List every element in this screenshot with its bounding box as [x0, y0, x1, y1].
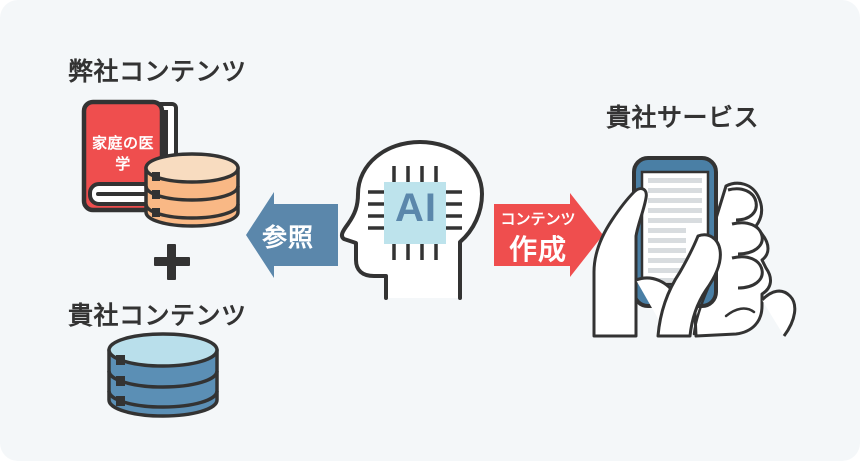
arrow-create-label-bottom: 作成	[492, 228, 584, 268]
db-orange-led-2	[152, 190, 160, 199]
arrow-reference-label: 参照	[244, 218, 332, 254]
plus-operator-icon	[150, 240, 194, 284]
db-blue-led-1	[116, 355, 125, 365]
db-orange-led-3	[152, 208, 160, 217]
arrow-create-label-top: コンテンツ	[492, 208, 584, 229]
diagram-canvas: 弊社コンテンツ 貴社コンテンツ 貴社サービス 家庭の医学	[0, 0, 860, 461]
heading-your-content: 貴社コンテンツ	[68, 296, 247, 332]
right-hand-wrist	[762, 291, 795, 336]
phone-in-hands-icon	[576, 140, 816, 340]
db-blue-led-2	[116, 376, 125, 386]
heading-our-content: 弊社コンテンツ	[68, 52, 247, 88]
plus-bar-vertical	[167, 244, 176, 280]
heading-your-service: 貴社サービス	[606, 98, 759, 134]
chip-ai-label: AI	[386, 186, 446, 231]
db-blue-led-3	[116, 396, 125, 406]
your-content-database-icon	[104, 330, 222, 420]
arrow-reference: 参照	[244, 190, 344, 280]
db-orange-led-1	[152, 172, 160, 181]
db-blue-top	[109, 334, 217, 366]
our-content-database-icon	[142, 150, 242, 230]
